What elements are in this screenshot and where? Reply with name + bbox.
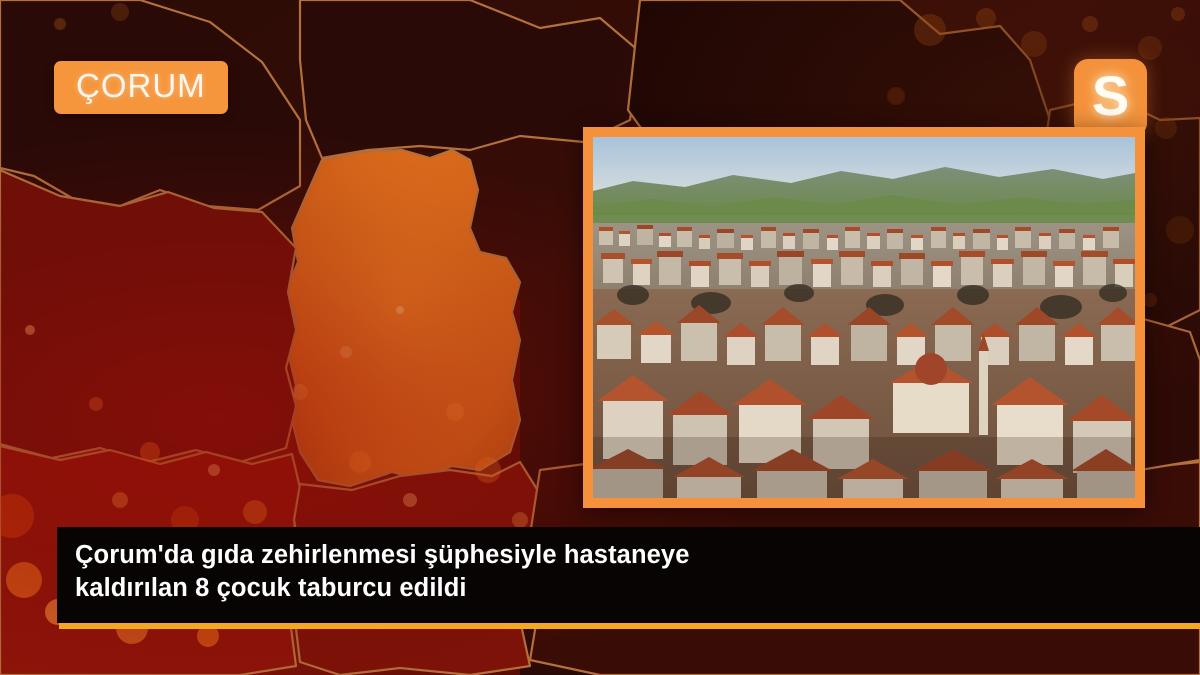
brand-logo-mark: S [1092,68,1129,124]
bokeh-particle [89,397,103,411]
bokeh-particle [446,403,464,421]
caption-underline-rule [59,623,1200,629]
bokeh-particle [349,451,371,473]
bokeh-particle [1138,36,1162,60]
bokeh-particle [1082,16,1098,32]
caption-line-1: Çorum'da gıda zehirlenmesi şüphesiyle ha… [75,541,689,569]
bokeh-particle [1166,216,1194,244]
bokeh-particle [340,346,352,358]
news-photo-image [593,137,1135,498]
bokeh-particle [140,442,160,462]
bokeh-particle [208,464,220,476]
bokeh-particle [403,493,417,507]
bokeh-particle [243,500,267,524]
bokeh-particle [292,384,308,400]
bokeh-particle [396,306,404,314]
bokeh-particle [887,87,905,105]
bokeh-particle [1143,293,1157,307]
brand-s-logo[interactable]: S [1074,59,1147,137]
province-badge: ÇORUM [54,61,228,114]
province-badge-label: ÇORUM [76,69,206,102]
bokeh-particle [512,512,528,528]
bokeh-particle [976,8,996,28]
bokeh-particle [111,3,129,21]
news-card: ÇORUM S [0,0,1200,675]
bokeh-particle [914,14,946,46]
bokeh-particle [112,492,128,508]
caption-line-2: kaldırılan 8 çocuk taburcu edildi [75,574,467,602]
bokeh-particle [475,457,501,483]
news-caption-bar: Çorum'da gıda zehirlenmesi şüphesiyle ha… [57,527,1200,623]
bokeh-particle [1171,7,1185,21]
news-photo-frame [583,127,1145,508]
bokeh-particle [6,562,42,598]
bokeh-particle [1021,31,1047,57]
bokeh-particle [25,325,35,335]
bokeh-particle [1155,117,1177,139]
news-caption-text: Çorum'da gıda zehirlenmesi şüphesiyle ha… [75,539,1182,604]
bokeh-particle [54,18,66,30]
region-west-red [0,170,296,462]
